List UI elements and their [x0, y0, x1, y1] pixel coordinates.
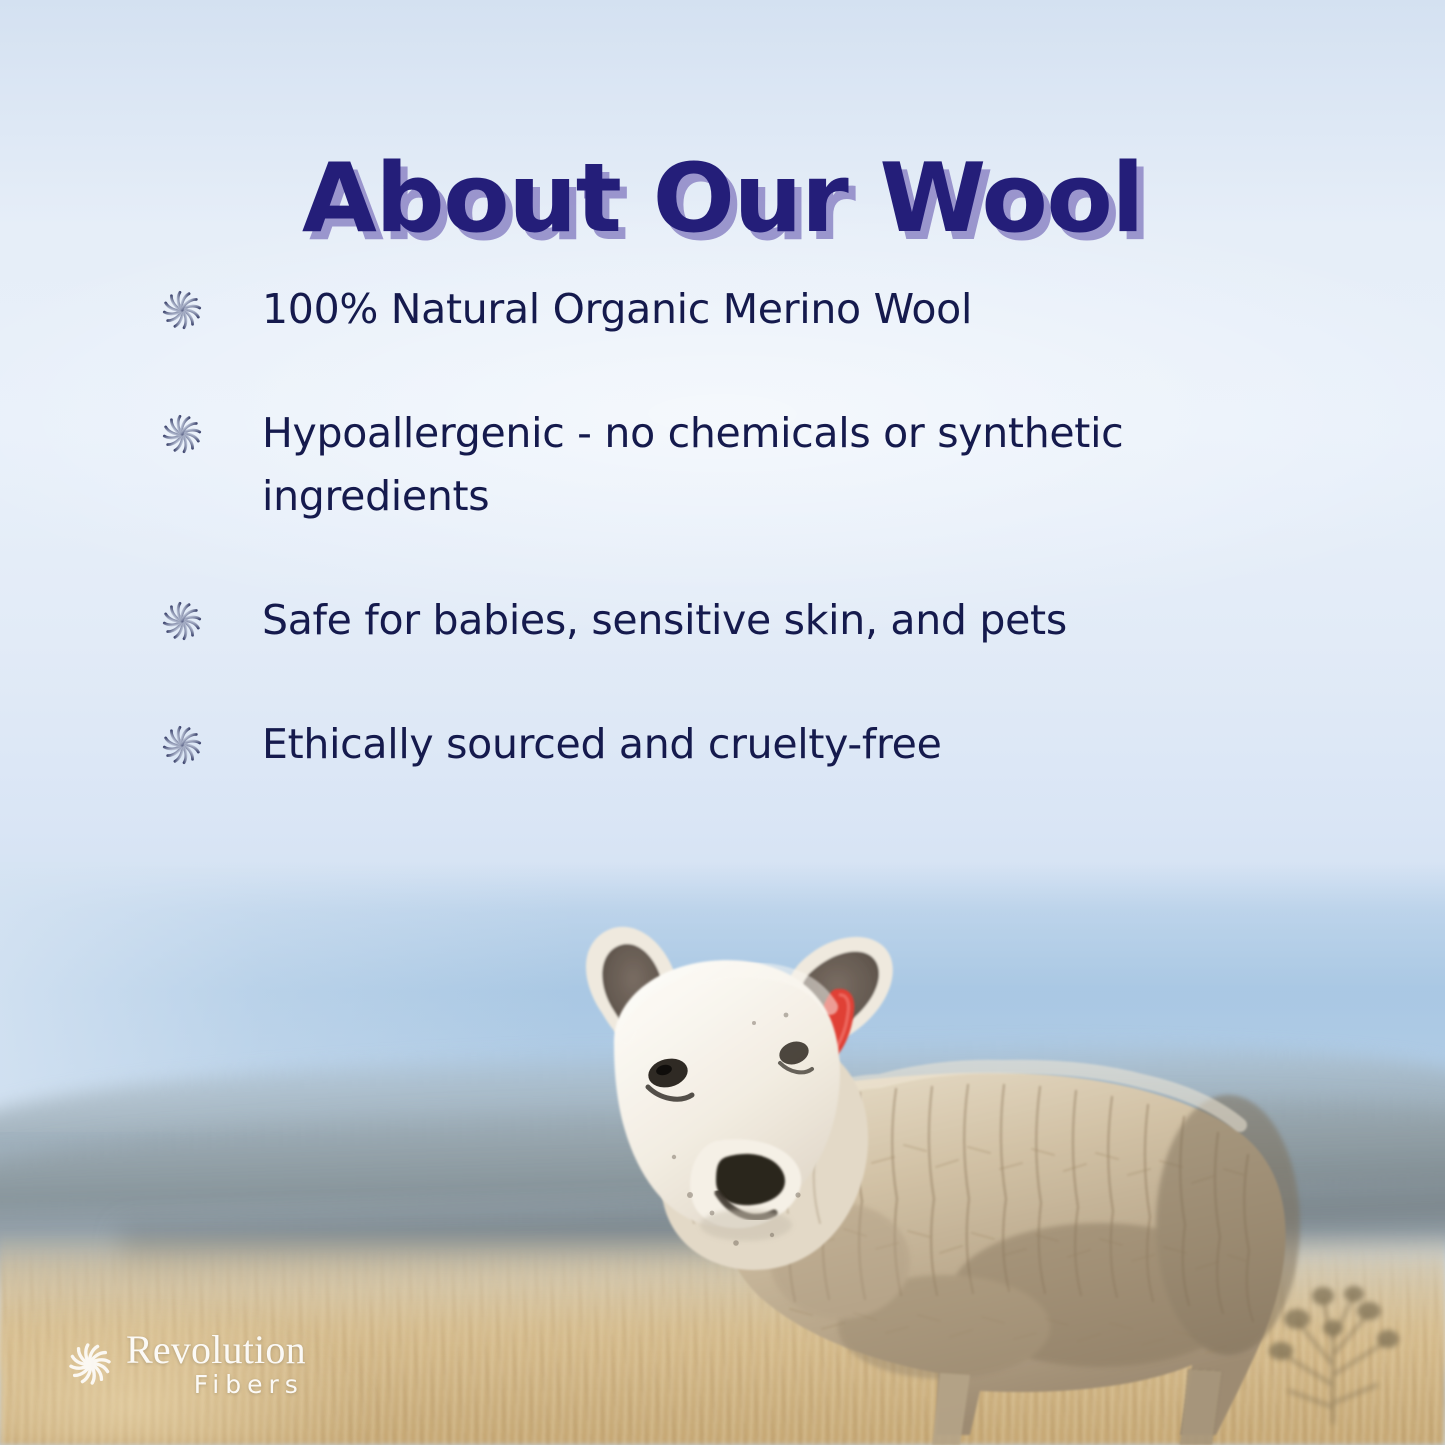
fiber-swirl-icon	[156, 408, 208, 460]
list-item-label: 100% Natural Organic Merino Wool	[262, 278, 1262, 340]
list-item-label: Ethically sourced and cruelty-free	[262, 713, 1262, 775]
brand-wordmark: Revolution Fibers	[126, 1330, 306, 1397]
list-item: Ethically sourced and cruelty-free	[156, 713, 1276, 775]
feature-list: 100% Natural Organic Merino Wool	[156, 278, 1276, 776]
fiber-swirl-icon	[156, 719, 208, 771]
sheep-photo	[540, 895, 1320, 1445]
list-item: 100% Natural Organic Merino Wool	[156, 278, 1276, 340]
list-item: Safe for babies, sensitive skin, and pet…	[156, 589, 1276, 651]
about-our-wool-infographic: About Our Wool	[0, 0, 1445, 1445]
list-item: Hypoallergenic - no chemicals or synthet…	[156, 402, 1276, 527]
fiber-swirl-icon	[62, 1336, 118, 1392]
brand-logo: Revolution Fibers	[62, 1330, 306, 1397]
brand-name: Revolution	[126, 1330, 306, 1370]
fiber-swirl-icon	[156, 595, 208, 647]
list-item-label: Hypoallergenic - no chemicals or synthet…	[262, 402, 1272, 527]
fiber-swirl-icon	[156, 284, 208, 336]
brand-subtitle: Fibers	[126, 1372, 306, 1397]
list-item-label: Safe for babies, sensitive skin, and pet…	[262, 589, 1262, 651]
page-title: About Our Wool	[0, 148, 1445, 251]
